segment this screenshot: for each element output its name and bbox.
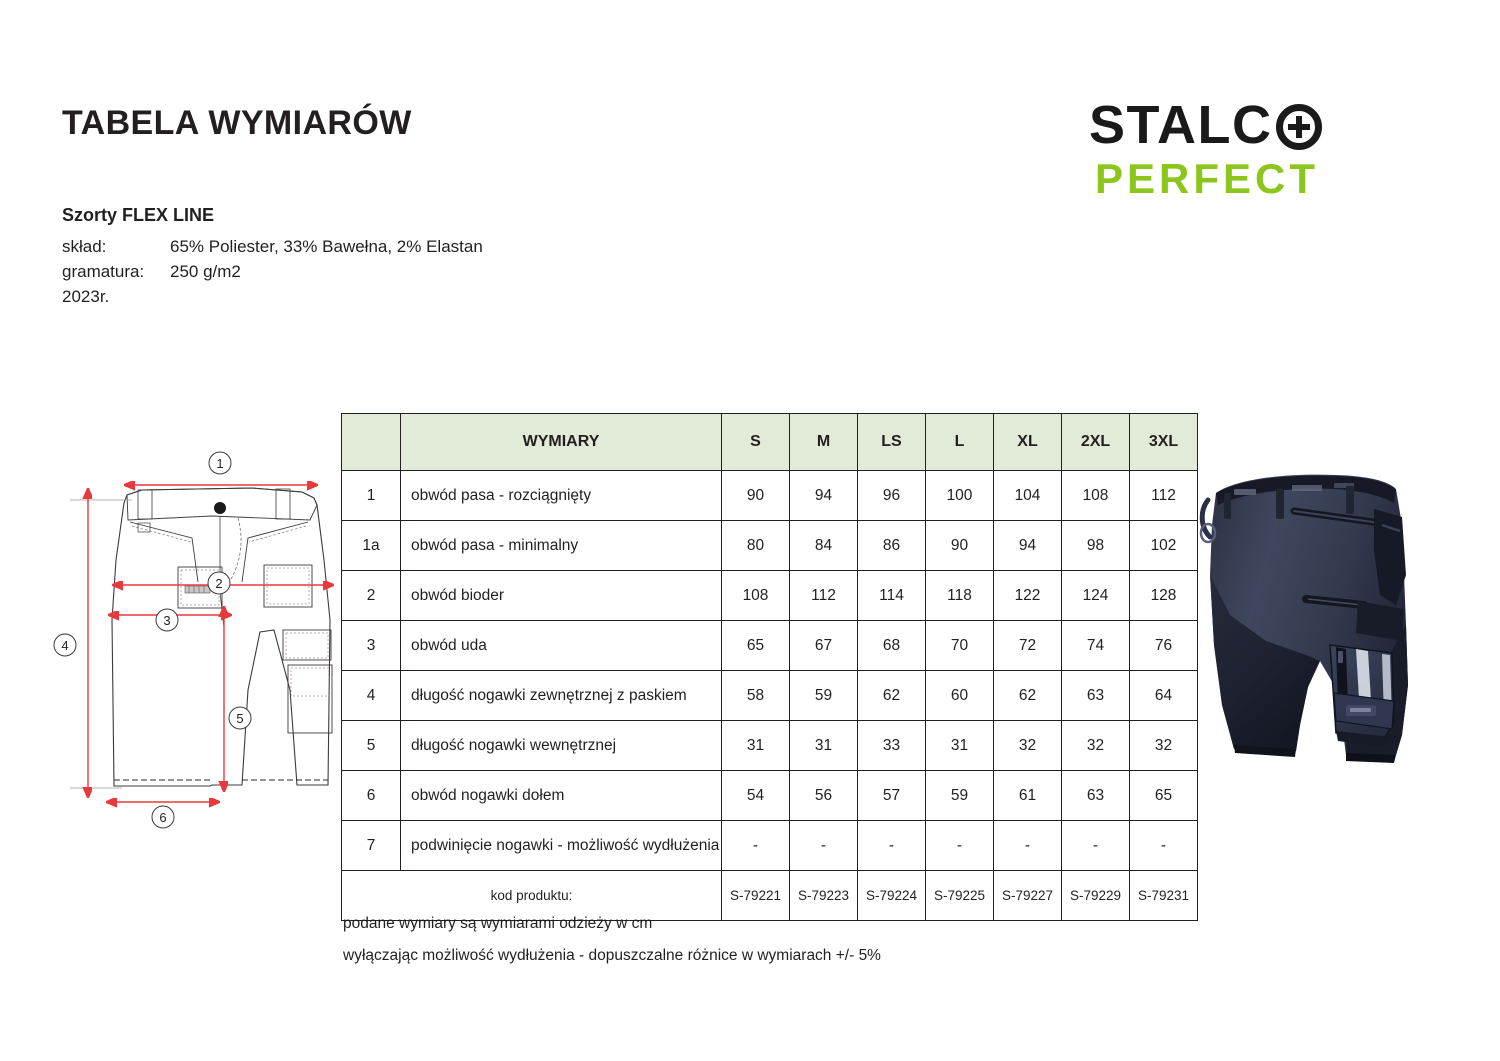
- header-measure-label: WYMIARY: [401, 414, 722, 471]
- row-label: obwód pasa - minimalny: [401, 521, 722, 571]
- row-value: -: [722, 821, 790, 871]
- row-value: 62: [994, 671, 1062, 721]
- row-value: -: [1130, 821, 1198, 871]
- row-value: 31: [926, 721, 994, 771]
- row-value: 96: [858, 471, 926, 521]
- product-photo: [1196, 455, 1446, 785]
- product-code: S-79229: [1062, 871, 1130, 921]
- row-value: 128: [1130, 571, 1198, 621]
- row-value: 58: [722, 671, 790, 721]
- row-value: 32: [994, 721, 1062, 771]
- row-value: 118: [926, 571, 994, 621]
- logo-wordmark: STALC: [1089, 98, 1419, 152]
- row-value: 104: [994, 471, 1062, 521]
- row-index: 1a: [342, 521, 401, 571]
- header-size-l: L: [926, 414, 994, 471]
- header-size-s: S: [722, 414, 790, 471]
- row-value: -: [994, 821, 1062, 871]
- row-value: -: [858, 821, 926, 871]
- row-value: 102: [1130, 521, 1198, 571]
- shorts-diagram-svg: 1 2 3 4 5 6: [52, 440, 352, 840]
- logo-subtitle: PERFECT: [1095, 158, 1419, 200]
- row-value: 65: [1130, 771, 1198, 821]
- row-index: 3: [342, 621, 401, 671]
- row-value: 32: [1130, 721, 1198, 771]
- row-value: 108: [1062, 471, 1130, 521]
- diagram-marker-6: 6: [159, 810, 166, 825]
- row-label: obwód pasa - rozciągnięty: [401, 471, 722, 521]
- row-value: 84: [790, 521, 858, 571]
- row-index: 5: [342, 721, 401, 771]
- row-value: 62: [858, 671, 926, 721]
- row-value: 61: [994, 771, 1062, 821]
- row-value: 63: [1062, 671, 1130, 721]
- diagram-marker-5: 5: [236, 711, 243, 726]
- row-label: podwinięcie nogawki - możliwość wydłużen…: [401, 821, 722, 871]
- row-value: 112: [1130, 471, 1198, 521]
- table-row: 1a obwód pasa - minimalny 80 84 86 90 94…: [342, 521, 1198, 571]
- row-value: 86: [858, 521, 926, 571]
- table-row: 7 podwinięcie nogawki - możliwość wydłuż…: [342, 821, 1198, 871]
- spec-year: 2023r.: [62, 284, 483, 309]
- shorts-photo-svg: [1196, 455, 1446, 785]
- row-value: -: [926, 821, 994, 871]
- table-row: 1 obwód pasa - rozciągnięty 90 94 96 100…: [342, 471, 1198, 521]
- row-value: 100: [926, 471, 994, 521]
- row-value: 32: [1062, 721, 1130, 771]
- row-index: 7: [342, 821, 401, 871]
- row-index: 1: [342, 471, 401, 521]
- row-value: 59: [790, 671, 858, 721]
- product-code: S-79225: [926, 871, 994, 921]
- row-value: 112: [790, 571, 858, 621]
- row-value: 56: [790, 771, 858, 821]
- row-value: 98: [1062, 521, 1130, 571]
- row-value: 59: [926, 771, 994, 821]
- size-table: WYMIARY S M LS L XL 2XL 3XL 1 obwód pasa…: [341, 413, 1198, 921]
- table-row: 2 obwód bioder 108 112 114 118 122 124 1…: [342, 571, 1198, 621]
- spec-label-gramatura: gramatura:: [62, 259, 170, 284]
- diagram-marker-3: 3: [163, 613, 170, 628]
- row-value: -: [1062, 821, 1130, 871]
- product-code: S-79227: [994, 871, 1062, 921]
- row-label: obwód nogawki dołem: [401, 771, 722, 821]
- row-value: 31: [790, 721, 858, 771]
- row-value: 65: [722, 621, 790, 671]
- row-label: długość nogawki zewnętrznej z paskiem: [401, 671, 722, 721]
- diagram-marker-4: 4: [61, 638, 68, 653]
- row-value: 68: [858, 621, 926, 671]
- row-value: 72: [994, 621, 1062, 671]
- product-name: Szorty FLEX LINE: [62, 203, 483, 228]
- diagram-marker-2: 2: [215, 576, 222, 591]
- row-index: 2: [342, 571, 401, 621]
- row-value: 54: [722, 771, 790, 821]
- spec-label-sklad: skład:: [62, 234, 170, 259]
- table-header-row: WYMIARY S M LS L XL 2XL 3XL: [342, 414, 1198, 471]
- row-value: 63: [1062, 771, 1130, 821]
- row-value: 122: [994, 571, 1062, 621]
- brand-logo: STALC PERFECT: [1089, 98, 1419, 200]
- spec-row-gramatura: gramatura: 250 g/m2: [62, 259, 483, 284]
- spec-value-gramatura: 250 g/m2: [170, 259, 483, 284]
- row-value: 90: [926, 521, 994, 571]
- row-value: 124: [1062, 571, 1130, 621]
- shorts-technical-drawing: 1 2 3 4 5 6: [52, 440, 352, 840]
- row-value: 76: [1130, 621, 1198, 671]
- header-index: [342, 414, 401, 471]
- row-label: obwód bioder: [401, 571, 722, 621]
- row-value: 70: [926, 621, 994, 671]
- row-value: 74: [1062, 621, 1130, 671]
- table-row: 5 długość nogawki wewnętrznej 31 31 33 3…: [342, 721, 1198, 771]
- logo-brand-text: STALC: [1089, 98, 1272, 152]
- row-value: 114: [858, 571, 926, 621]
- row-value: 33: [858, 721, 926, 771]
- row-label: długość nogawki wewnętrznej: [401, 721, 722, 771]
- header-size-m: M: [790, 414, 858, 471]
- row-value: 64: [1130, 671, 1198, 721]
- header-size-xl: XL: [994, 414, 1062, 471]
- row-value: 67: [790, 621, 858, 671]
- circled-plus-icon: [1276, 104, 1322, 150]
- header-size-3xl: 3XL: [1130, 414, 1198, 471]
- product-info-block: Szorty FLEX LINE skład: 65% Poliester, 3…: [62, 203, 483, 309]
- row-value: 94: [790, 471, 858, 521]
- table-row: 6 obwód nogawki dołem 54 56 57 59 61 63 …: [342, 771, 1198, 821]
- row-value: 80: [722, 521, 790, 571]
- row-value: 108: [722, 571, 790, 621]
- footnotes: podane wymiary są wymiarami odzieży w cm…: [343, 908, 881, 972]
- header-size-ls: LS: [858, 414, 926, 471]
- row-value: 57: [858, 771, 926, 821]
- product-code: S-79231: [1130, 871, 1198, 921]
- diagram-marker-1: 1: [216, 456, 223, 471]
- row-value: 90: [722, 471, 790, 521]
- spec-row-sklad: skład: 65% Poliester, 33% Bawełna, 2% El…: [62, 234, 483, 259]
- row-index: 4: [342, 671, 401, 721]
- row-index: 6: [342, 771, 401, 821]
- table-row: 4 długość nogawki zewnętrznej z paskiem …: [342, 671, 1198, 721]
- spec-value-sklad: 65% Poliester, 33% Bawełna, 2% Elastan: [170, 234, 483, 259]
- row-value: 60: [926, 671, 994, 721]
- row-value: 94: [994, 521, 1062, 571]
- row-value: 31: [722, 721, 790, 771]
- page-title: TABELA WYMIARÓW: [62, 104, 412, 143]
- footnote-tolerance: wyłączając możliwość wydłużenia - dopusz…: [343, 940, 881, 972]
- row-value: -: [790, 821, 858, 871]
- row-label: obwód uda: [401, 621, 722, 671]
- header-size-2xl: 2XL: [1062, 414, 1130, 471]
- footnote-units: podane wymiary są wymiarami odzieży w cm: [343, 908, 881, 940]
- table-row: 3 obwód uda 65 67 68 70 72 74 76: [342, 621, 1198, 671]
